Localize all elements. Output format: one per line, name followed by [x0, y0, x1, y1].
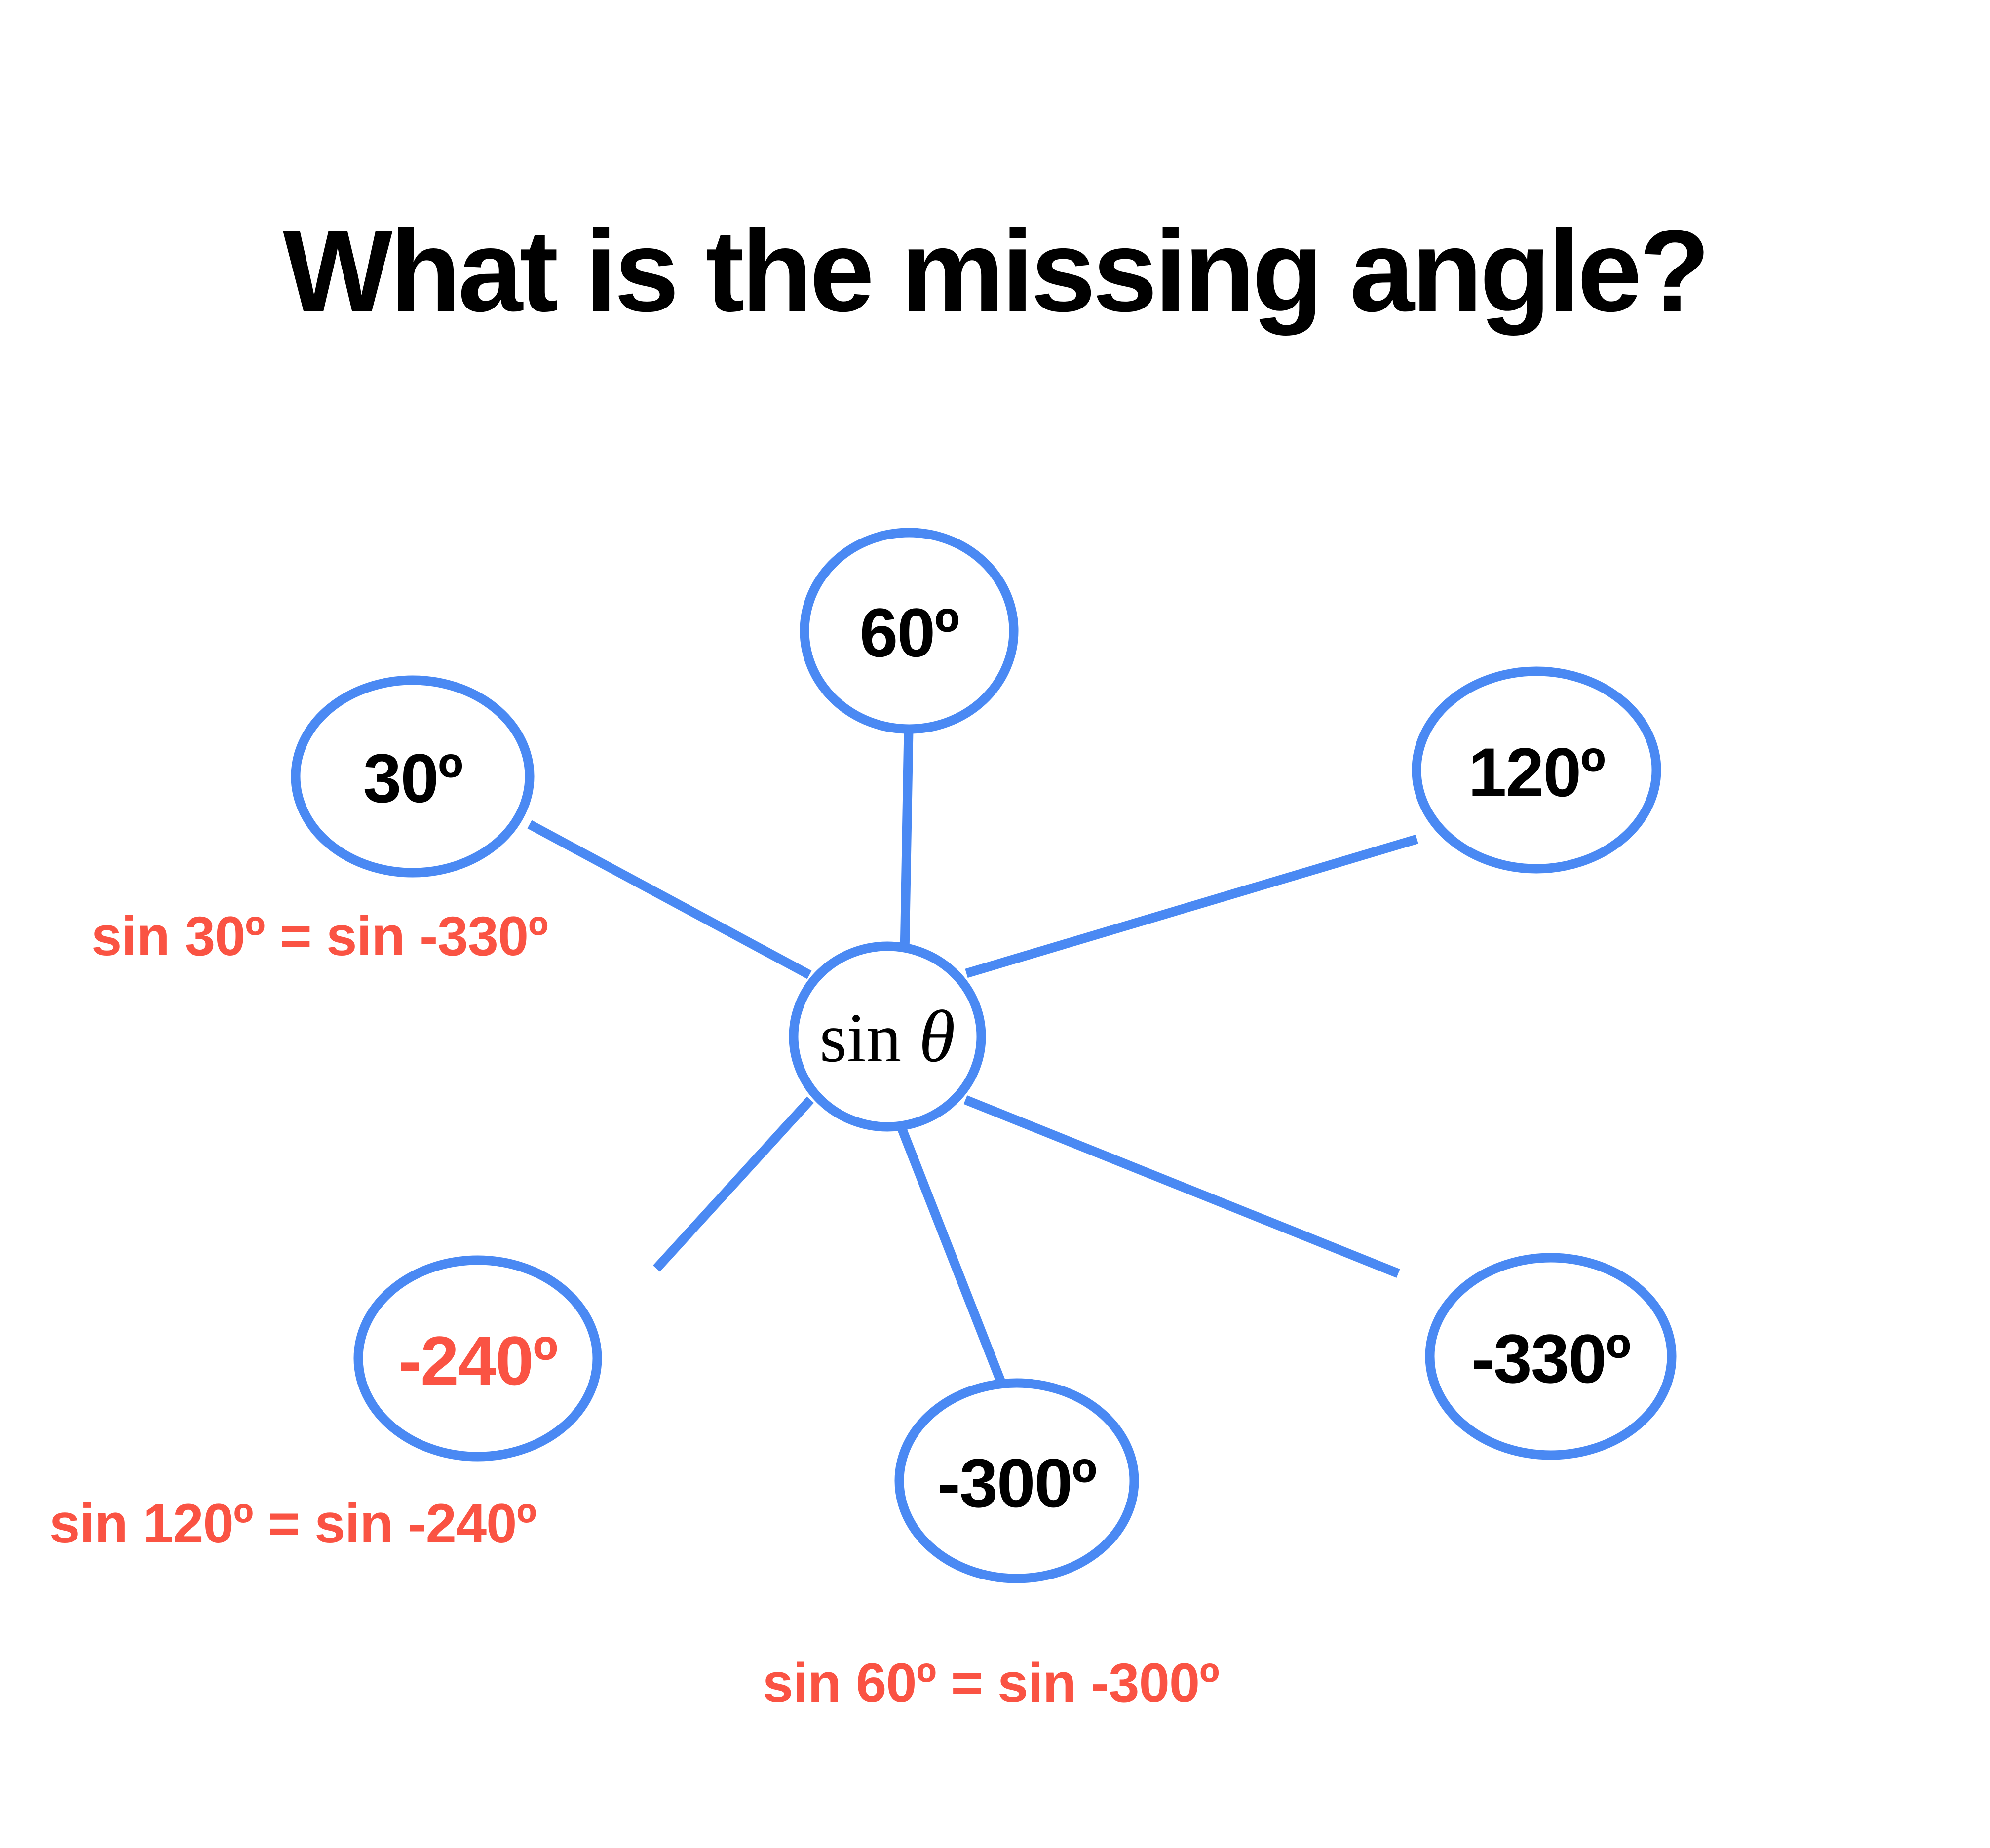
node-neg240[interactable]: -240º — [358, 1260, 597, 1457]
center-node[interactable]: sin θ — [794, 946, 981, 1127]
node-neg330[interactable]: -330º — [1430, 1258, 1672, 1455]
node-60[interactable]: 60º — [804, 533, 1014, 729]
diagram-canvas: What is the missing angle? sin θ 30º — [0, 0, 1990, 1848]
node-120[interactable]: 120º — [1416, 671, 1656, 869]
spoke-center-to-120 — [966, 839, 1417, 973]
spoke-center-to-60 — [905, 730, 909, 954]
node-30[interactable]: 30º — [296, 680, 530, 873]
annotation-sin60: sin 60º = sin -300º — [763, 1652, 1219, 1714]
annotation-sin30: sin 30º = sin -330º — [91, 905, 548, 967]
node-neg330-label: -330º — [1471, 1320, 1630, 1397]
node-30-label: 30º — [363, 739, 462, 817]
page-title: What is the missing angle? — [283, 206, 1707, 336]
spoke-center-to-neg330 — [965, 1100, 1398, 1273]
spoke-center-to-neg240 — [656, 1100, 810, 1269]
node-neg300[interactable]: -300º — [899, 1383, 1134, 1578]
node-neg240-label: -240º — [398, 1322, 557, 1399]
center-node-label: sin θ — [820, 996, 956, 1078]
node-60-label: 60º — [860, 594, 959, 671]
spoke-center-to-neg300 — [898, 1119, 1008, 1399]
node-120-label: 120º — [1468, 733, 1605, 811]
annotation-sin120: sin 120º = sin -240º — [49, 1493, 536, 1554]
spoke-center-to-30 — [530, 824, 809, 975]
missing-angle-diagram: What is the missing angle? sin θ 30º — [0, 0, 1990, 1848]
node-neg300-label: -300º — [937, 1444, 1096, 1522]
